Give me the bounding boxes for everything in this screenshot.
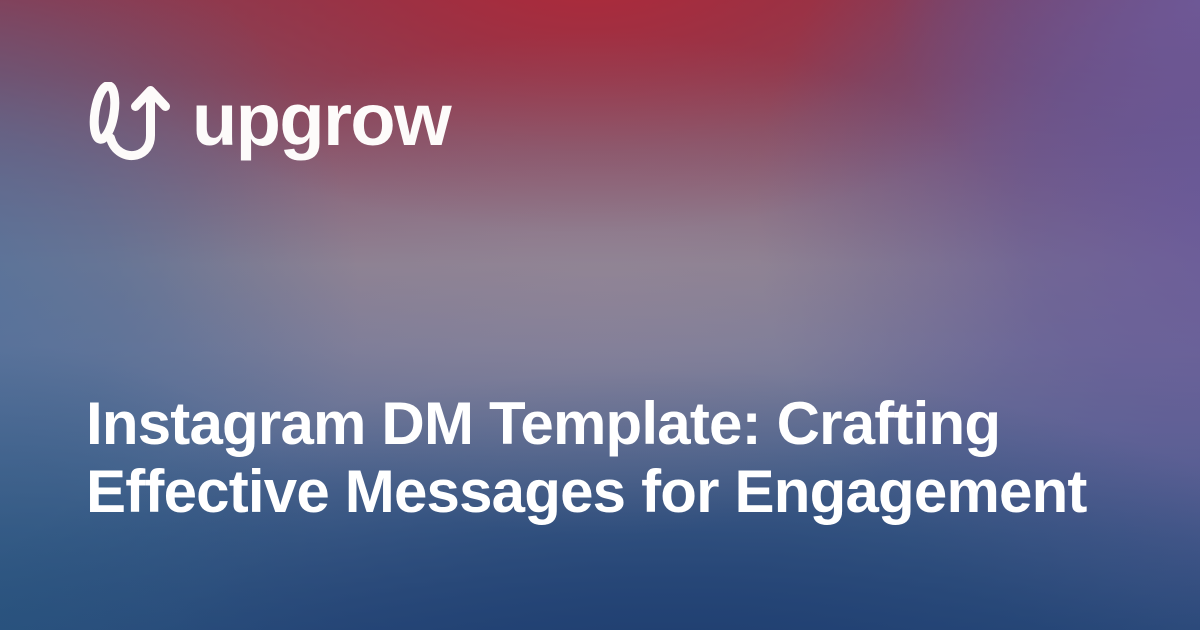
- brand-logo-lockup[interactable]: upgrow: [88, 82, 450, 162]
- og-card: upgrow Instagram DM Template: Crafting E…: [0, 0, 1200, 630]
- page-title: Instagram DM Template: Crafting Effectiv…: [86, 390, 1128, 527]
- brand-wordmark: upgrow: [192, 83, 450, 161]
- card-content: upgrow Instagram DM Template: Crafting E…: [0, 0, 1200, 630]
- upgrow-u-arrow-icon: [88, 82, 174, 162]
